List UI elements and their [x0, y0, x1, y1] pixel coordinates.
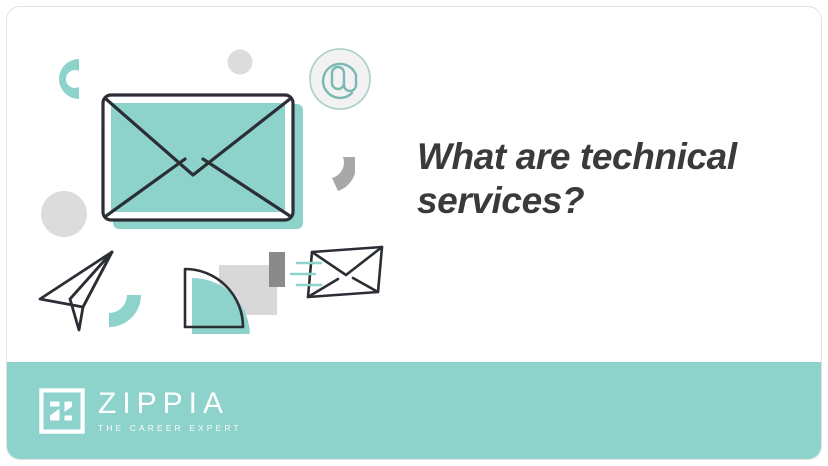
gray-circle-large-icon	[41, 191, 87, 237]
teal-quarter-arc-icon	[109, 295, 141, 327]
main-envelope-icon	[103, 95, 303, 229]
gray-comma-arc-icon	[332, 157, 355, 191]
zippia-logo-text: ZIPPIA THE CAREER EXPERT	[98, 389, 242, 433]
gray-circle-small-icon	[228, 50, 253, 75]
teal-c-arc-icon	[59, 59, 79, 99]
zippia-logo[interactable]: ZIPPIA THE CAREER EXPERT	[39, 388, 242, 434]
small-envelope-icon	[308, 247, 382, 297]
page-title: What are technical services?	[417, 135, 787, 222]
zippia-z-mark-icon	[39, 388, 85, 434]
paper-plane-icon	[40, 252, 112, 330]
dark-gray-rect-icon	[269, 252, 285, 287]
brand-name: ZIPPIA	[98, 389, 242, 419]
email-illustration	[7, 7, 407, 367]
slide-card: What are technical services? ZIPPIA THE …	[6, 6, 822, 460]
at-symbol-icon	[309, 48, 371, 110]
footer-brand-band: ZIPPIA THE CAREER EXPERT	[7, 362, 821, 459]
brand-tagline: THE CAREER EXPERT	[98, 424, 242, 433]
